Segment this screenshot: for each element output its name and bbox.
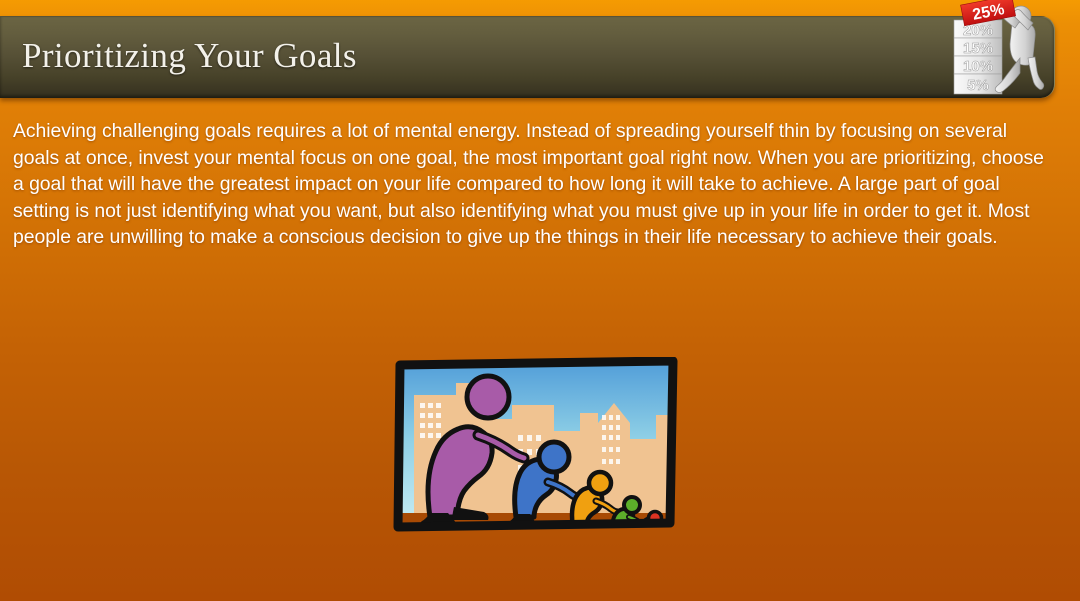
page-title: Prioritizing Your Goals <box>22 33 357 79</box>
svg-text:15%: 15% <box>963 40 993 57</box>
person-lifting-block-figure <box>995 6 1044 93</box>
svg-text:10%: 10% <box>963 58 993 75</box>
clipart-scene <box>392 357 682 539</box>
slide: Prioritizing Your Goals <box>0 0 1080 601</box>
title-bar: Prioritizing Your Goals <box>0 16 1055 98</box>
percent-block-stack: 20% 15% 10% 5% <box>954 20 1002 94</box>
percent-blocks-stacking-icon: 20% 15% 10% 5% <box>940 0 1060 104</box>
svg-text:5%: 5% <box>967 77 989 94</box>
family-chain-clipart <box>392 357 682 539</box>
body-paragraph: Achieving challenging goals requires a l… <box>13 118 1053 251</box>
